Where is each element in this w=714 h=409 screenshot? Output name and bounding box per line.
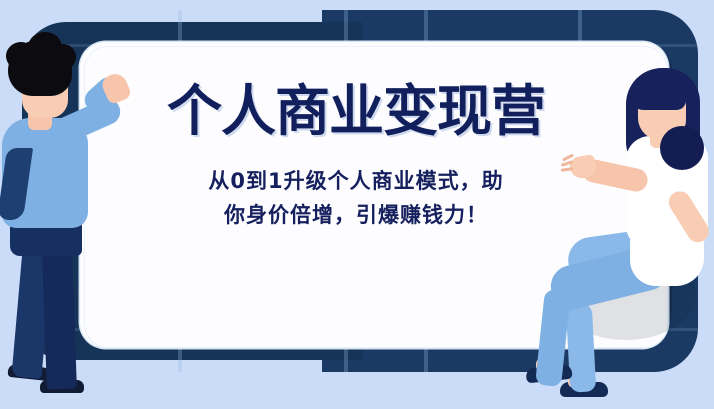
page-title: 个人商业变现营	[96, 84, 616, 139]
poster-text-block: 个人商业变现营 从0到1升级个人商业模式，助 你身价倍增，引爆赚钱力！	[96, 84, 616, 232]
subtitle-line-2: 你身价倍增，引爆赚钱力！	[96, 199, 616, 233]
poster-subtitle: 从0到1升级个人商业模式，助 你身价倍增，引爆赚钱力！	[96, 165, 616, 232]
promo-poster: 个人商业变现营 从0到1升级个人商业模式，助 你身价倍增，引爆赚钱力！	[0, 0, 714, 409]
woman-shin-back	[566, 303, 597, 392]
subtitle-line-1: 从0到1升级个人商业模式，助	[208, 169, 503, 193]
man-hair-curl-4	[14, 66, 40, 90]
woman-hair-front	[630, 70, 686, 110]
woman-hair-bun	[660, 126, 704, 170]
man-hair-curl-3	[50, 44, 76, 70]
